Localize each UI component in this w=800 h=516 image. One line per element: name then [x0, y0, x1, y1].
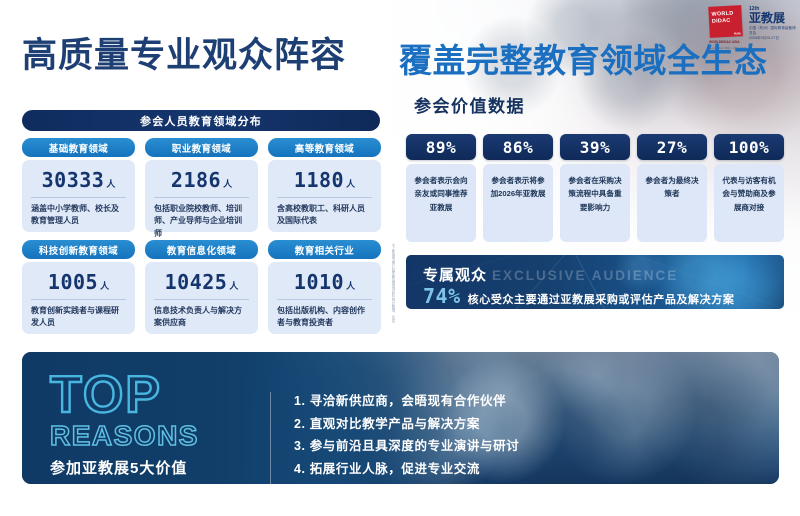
- field-card-number: 1180: [294, 168, 344, 192]
- education-field-card-grid: 基础教育领域 30333人 涵盖中小学教师、校长及教育管理人员 职业教育领域: [22, 138, 382, 342]
- logo-brand-line1: WORLD: [711, 11, 733, 18]
- card-row-1: 基础教育领域 30333人 涵盖中小学教师、校长及教育管理人员 职业教育领域: [22, 138, 382, 232]
- field-card-title: 高等教育领域: [295, 141, 354, 155]
- field-card-education-informatization[interactable]: 教育信息化领域 10425人 信息技术负责人与解决方案供应商: [145, 240, 258, 334]
- left-section-banner: 参会人员教育领域分布: [22, 110, 380, 131]
- exclusive-audience-title-cn: 专属观众: [423, 264, 487, 285]
- right-headline: 覆盖完整教育领域全生态: [399, 44, 768, 77]
- field-card-desc: 教育创新实践者与课程研发人员: [31, 305, 126, 330]
- top-reasons-banner: TOP REASONS 参加亚教展5大价值 1. 寻洽新供应商，会晤现有合作伙伴…: [22, 352, 779, 484]
- field-card-desc: 含高校教职工、科研人员及国际代表: [277, 203, 372, 228]
- list-item: 3. 参与前沿且具深度的专业演讲与研讨: [294, 440, 519, 453]
- top-reasons-word-reasons: REASONS: [50, 422, 250, 450]
- field-card-header: 基础教育领域: [22, 138, 135, 157]
- logo-brand-mark-sub: Asia: [734, 31, 741, 35]
- field-card-title: 科技创新教育领域: [39, 243, 118, 257]
- value-stat-header: 86%: [483, 134, 553, 160]
- field-card-vocational-education[interactable]: 职业教育领域 2186人 包括职业院校教师、培训师、产业导师与企业培训师: [145, 138, 258, 232]
- field-card-desc: 信息技术负责人与解决方案供应商: [154, 305, 249, 330]
- field-card-higher-education[interactable]: 高等教育领域 1180人 含高校教职工、科研人员及国际代表: [268, 138, 381, 232]
- value-stat-desc: 参会者为最终决策者: [643, 174, 701, 201]
- logo-brand-line2: DIDAC: [712, 18, 731, 25]
- value-stat-body: 参会者在采购决策流程中具备重要影响力: [560, 164, 630, 242]
- field-card-body: 10425人 信息技术负责人与解决方案供应商: [145, 262, 258, 334]
- value-stat-desc: 参会者表示会向亲友或同事推荐亚教展: [412, 174, 470, 214]
- field-card-body: 1010人 包括出版机构、内容创作者与教育投资者: [268, 262, 381, 334]
- field-card-number-line: 2186人: [154, 168, 249, 198]
- left-headline: 高质量专业观众阵容: [22, 38, 346, 73]
- left-panel: 高质量专业观众阵容 参会人员教育领域分布 基础教育领域 30333人 涵盖中小学…: [0, 0, 400, 330]
- value-stat-card-return-2026[interactable]: 86% 参会者表示将参加2026年亚教展: [483, 134, 553, 242]
- field-card-unit: 人: [346, 281, 355, 291]
- value-stat-header: 100%: [714, 134, 784, 160]
- field-card-number: 30333: [42, 168, 105, 192]
- logo-subline-2: 2026年9月25-27日: [749, 36, 797, 41]
- value-stat-desc: 代表与访客有机会与赞助商及参展商对接: [720, 174, 778, 214]
- exclusive-audience-statement-row: 74% 核心受众主要通过亚教展采购或评估产品及解决方案: [423, 284, 734, 308]
- value-stat-percent: 86%: [503, 138, 533, 157]
- field-card-unit: 人: [223, 179, 232, 189]
- field-card-body: 1180人 含高校教职工、科研人员及国际代表: [268, 160, 381, 232]
- left-section-banner-label: 参会人员教育领域分布: [140, 113, 262, 129]
- field-card-desc: 包括职业院校教师、培训师、产业导师与企业培训师: [154, 203, 249, 240]
- top-reasons-wordmark: TOP REASONS 参加亚教展5大价值: [50, 374, 250, 478]
- field-card-tech-innovation-education[interactable]: 科技创新教育领域 1005人 教育创新实践者与课程研发人员: [22, 240, 135, 334]
- field-card-basic-education[interactable]: 基础教育领域 30333人 涵盖中小学教师、校长及教育管理人员: [22, 138, 135, 232]
- field-card-number-line: 10425人: [154, 270, 249, 300]
- value-stat-percent: 39%: [580, 138, 610, 157]
- list-item: 4. 拓展行业人脉，促进专业交流: [294, 463, 519, 476]
- field-card-number-line: 30333人: [31, 168, 126, 198]
- value-stat-desc: 参会者表示将参加2026年亚教展: [489, 174, 547, 201]
- field-card-number: 1010: [294, 270, 344, 294]
- field-card-header: 教育信息化领域: [145, 240, 258, 259]
- right-subheadline: 参会价值数据: [414, 92, 525, 117]
- field-card-desc: 涵盖中小学教师、校长及教育管理人员: [31, 203, 126, 228]
- field-card-number: 1005: [48, 270, 98, 294]
- value-stat-body: 参会者表示将参加2026年亚教展: [483, 164, 553, 242]
- field-card-body: 2186人 包括职业院校教师、培训师、产业导师与企业培训师: [145, 160, 258, 232]
- field-card-unit: 人: [106, 179, 115, 189]
- field-card-desc: 包括出版机构、内容创作者与教育投资者: [277, 305, 372, 330]
- value-stat-card-final-decision-maker[interactable]: 27% 参会者为最终决策者: [637, 134, 707, 242]
- value-stat-header: 89%: [406, 134, 476, 160]
- exclusive-audience-titles: 专属观众 EXCLUSIVE AUDIENCE: [423, 264, 678, 285]
- exclusive-audience-statement: 核心受众主要通过亚教展采购或评估产品及解决方案: [468, 291, 735, 307]
- value-stat-body: 参会者为最终决策者: [637, 164, 707, 242]
- logo-subline-1: 中国（杭州）国际教育装备博览会: [749, 26, 797, 36]
- value-stat-card-recommend[interactable]: 89% 参会者表示会向亲友或同事推荐亚教展: [406, 134, 476, 242]
- top-reasons-list: 1. 寻洽新供应商，会晤现有合作伙伴 2. 直观对比教学产品与解决方案 3. 参…: [294, 395, 519, 484]
- right-panel: WORLD DIDAC Asia 12th 亚教展 中国（杭州）国际教育装备博览…: [390, 0, 800, 330]
- field-card-number: 2186: [171, 168, 221, 192]
- top-reasons-word-top: TOP: [50, 374, 250, 417]
- value-stat-card-grid: 89% 参会者表示会向亲友或同事推荐亚教展 86% 参会者表示将参加2026年亚…: [406, 134, 784, 242]
- value-stat-header: 39%: [560, 134, 630, 160]
- field-card-education-related-industry[interactable]: 教育相关行业 1010人 包括出版机构、内容创作者与教育投资者: [268, 240, 381, 334]
- field-card-header: 教育相关行业: [268, 240, 381, 259]
- field-card-unit: 人: [229, 281, 238, 291]
- field-card-unit: 人: [346, 179, 355, 189]
- field-card-title: 教育相关行业: [295, 243, 354, 257]
- card-row-2: 科技创新教育领域 1005人 教育创新实践者与课程研发人员 教育信息化领域: [22, 240, 382, 334]
- slide-root: 高质量专业观众阵容 参会人员教育领域分布 基础教育领域 30333人 涵盖中小学…: [0, 0, 800, 516]
- value-stat-card-purchase-influence[interactable]: 39% 参会者在采购决策流程中具备重要影响力: [560, 134, 630, 242]
- logo-name-cn: 亚教展: [749, 12, 797, 25]
- value-stat-card-exhibitor-matchmaking[interactable]: 100% 代表与访客有机会与赞助商及参展商对接: [714, 134, 784, 242]
- field-card-title: 职业教育领域: [172, 141, 231, 155]
- field-card-body: 30333人 涵盖中小学教师、校长及教育管理人员: [22, 160, 135, 232]
- field-card-header: 职业教育领域: [145, 138, 258, 157]
- value-stat-body: 代表与访客有机会与赞助商及参展商对接: [714, 164, 784, 242]
- field-card-number: 10425: [165, 270, 228, 294]
- top-reasons-ordered-list: 1. 寻洽新供应商，会晤现有合作伙伴 2. 直观对比教学产品与解决方案 3. 参…: [294, 395, 519, 484]
- worlddidac-asia-logo: WORLD DIDAC Asia 12th 亚教展 中国（杭州）国际教育装备博览…: [709, 4, 797, 46]
- value-stat-header: 27%: [637, 134, 707, 160]
- field-card-number-line: 1180人: [277, 168, 372, 198]
- worlddidac-logo-mark-icon: WORLD DIDAC Asia: [708, 5, 743, 38]
- field-card-unit: 人: [100, 281, 109, 291]
- field-card-number-line: 1005人: [31, 270, 126, 300]
- value-stat-desc: 参会者在采购决策流程中具备重要影响力: [566, 174, 624, 214]
- field-card-title: 教育信息化领域: [167, 243, 236, 257]
- field-card-body: 1005人 教育创新实践者与课程研发人员: [22, 262, 135, 334]
- field-card-header: 高等教育领域: [268, 138, 381, 157]
- logo-chinese-lockup: 12th 亚教展 中国（杭州）国际教育装备博览会 2026年9月25-27日: [749, 7, 797, 41]
- exclusive-audience-title-en: EXCLUSIVE AUDIENCE: [492, 268, 678, 283]
- vertical-divider: [270, 392, 271, 484]
- value-stat-percent: 27%: [657, 138, 687, 157]
- value-stat-percent: 89%: [426, 138, 456, 157]
- field-card-title: 基础教育领域: [49, 141, 108, 155]
- value-stat-percent: 100%: [729, 138, 770, 157]
- list-item: 2. 直观对比教学产品与解决方案: [294, 418, 519, 431]
- exclusive-audience-percent: 74%: [423, 284, 461, 308]
- field-card-header: 科技创新教育领域: [22, 240, 135, 259]
- value-stat-body: 参会者表示会向亲友或同事推荐亚教展: [406, 164, 476, 242]
- top-reasons-caption: 参加亚教展5大价值: [50, 457, 250, 478]
- list-item: 1. 寻洽新供应商，会晤现有合作伙伴: [294, 395, 519, 408]
- field-card-number-line: 1010人: [277, 270, 372, 300]
- exclusive-audience-band: 专属观众 EXCLUSIVE AUDIENCE 74% 核心受众主要通过亚教展采…: [406, 255, 784, 309]
